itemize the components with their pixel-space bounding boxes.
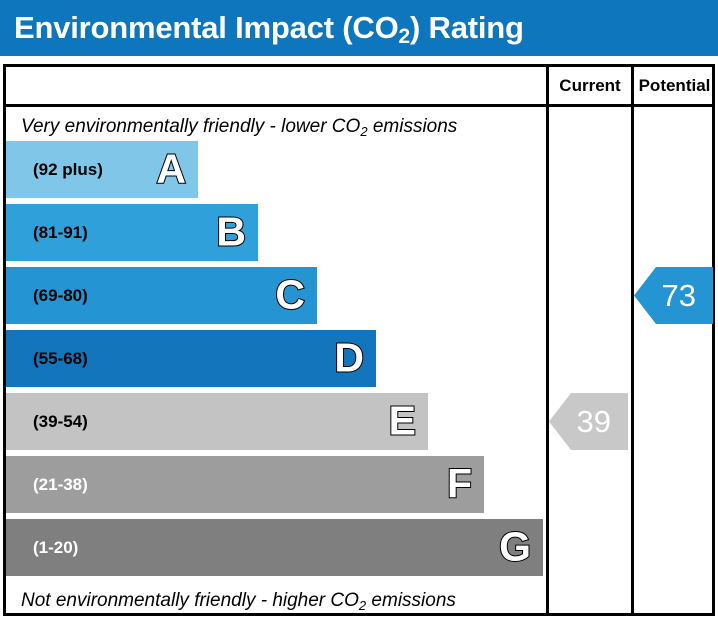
band-letter-g: G: [499, 526, 531, 567]
rating-band-e: (39-54)E: [6, 393, 428, 450]
epc-environmental-impact-chart: Environmental Impact (CO2) Rating Curren…: [0, 0, 718, 619]
column-header-current: Current: [549, 67, 631, 104]
rating-table: Current Potential Very environmentally f…: [3, 64, 715, 616]
page-title: Environmental Impact (CO2) Rating: [0, 10, 524, 46]
rating-arrow-potential: 73: [634, 267, 713, 324]
band-range-label: (92 plus): [6, 160, 103, 180]
rating-band-c: (69-80)C: [6, 267, 317, 324]
rating-band-a: (92 plus)A: [6, 141, 198, 198]
chart-title-bar: Environmental Impact (CO2) Rating: [0, 0, 718, 56]
band-range-label: (69-80): [6, 286, 88, 306]
band-letter-e: E: [389, 400, 416, 441]
column-header-potential: Potential: [634, 67, 715, 104]
band-letter-c: C: [275, 274, 305, 315]
band-range-label: (21-38): [6, 475, 88, 495]
band-range-label: (81-91): [6, 223, 88, 243]
band-range-label: (39-54): [6, 412, 88, 432]
rating-arrow-current: 39: [549, 393, 628, 450]
caption-top: Very environmentally friendly - lower CO…: [21, 116, 457, 138]
band-letter-d: D: [334, 337, 364, 378]
band-range-label: (1-20): [6, 538, 78, 558]
rating-band-b: (81-91)B: [6, 204, 258, 261]
rating-band-f: (21-38)F: [6, 456, 484, 513]
band-letter-f: F: [447, 463, 472, 504]
band-letter-a: A: [156, 148, 186, 189]
rating-value-potential: 73: [662, 280, 713, 311]
band-range-label: (55-68): [6, 349, 88, 369]
band-letter-b: B: [216, 211, 246, 252]
bands-panel: Very environmentally friendly - lower CO…: [6, 107, 718, 616]
rating-band-d: (55-68)D: [6, 330, 376, 387]
caption-bottom: Not environmentally friendly - higher CO…: [21, 590, 456, 612]
rating-band-g: (1-20)G: [6, 519, 543, 576]
rating-value-current: 39: [577, 406, 628, 437]
